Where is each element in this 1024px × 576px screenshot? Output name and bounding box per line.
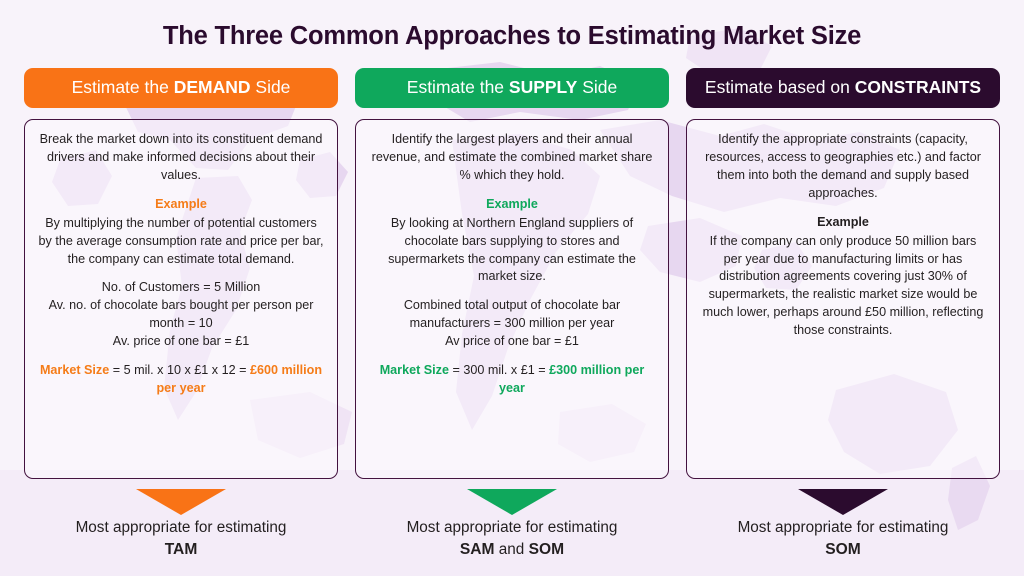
footer-term-supply-0: SAM [460,541,495,558]
footer-term-constraints-0: SOM [825,541,861,558]
example-body-demand: By multiplying the number of potential c… [37,215,325,269]
page-title: The Three Common Approaches to Estimatin… [24,22,1000,51]
example-label-constraints: Example [699,214,987,232]
arrow-wrap-constraints [686,479,1000,517]
fact-demand-2: Av. price of one bar = £1 [37,333,325,351]
fact-supply-1: Av price of one bar = £1 [368,333,656,351]
down-arrow-icon-supply [467,489,557,515]
header-demand-prefix: Estimate the [72,77,174,97]
market-size-supply: Market Size = 300 mil. x £1 = £300 milli… [368,362,656,398]
footer-term-demand-0: TAM [165,541,198,558]
example-label-supply: Example [368,196,656,214]
header-constraints: Estimate based on CONSTRAINTS [686,68,1000,108]
arrow-wrap-supply [355,479,669,517]
market-size-formula-demand: = 5 mil. x 10 x £1 x 12 = [109,363,250,377]
footer-lead-constraints: Most appropriate for estimating [738,519,949,536]
infographic-root: The Three Common Approaches to Estimatin… [0,0,1024,576]
column-demand: Estimate the DEMAND Side Break the marke… [24,68,338,566]
down-arrow-icon-constraints [798,489,888,515]
footer-demand: Most appropriate for estimating TAM [24,517,338,566]
market-size-formula-supply: = 300 mil. x £1 = [449,363,549,377]
header-constraints-prefix: Estimate based on [705,77,855,97]
header-constraints-emphasis: CONSTRAINTS [855,77,981,97]
header-demand-emphasis: DEMAND [174,77,251,97]
header-supply-emphasis: SUPPLY [509,77,577,97]
column-constraints: Estimate based on CONSTRAINTS Identify t… [686,68,1000,566]
header-demand-suffix: Side [251,77,291,97]
header-supply-prefix: Estimate the [407,77,509,97]
column-supply: Estimate the SUPPLY Side Identify the la… [355,68,669,566]
example-body-constraints: If the company can only produce 50 milli… [699,233,987,340]
footer-constraints: Most appropriate for estimating SOM [686,517,1000,566]
intro-demand: Break the market down into its constitue… [37,131,325,185]
header-supply: Estimate the SUPPLY Side [355,68,669,108]
arrow-wrap-demand [24,479,338,517]
footer-conjunction-supply: and [495,541,529,558]
fact-demand-0: No. of Customers = 5 Million [37,279,325,297]
fact-demand-1: Av. no. of chocolate bars bought per per… [37,297,325,333]
card-demand: Break the market down into its constitue… [24,119,338,479]
intro-supply: Identify the largest players and their a… [368,131,656,185]
footer-lead-demand: Most appropriate for estimating [76,519,287,536]
header-supply-suffix: Side [577,77,617,97]
example-body-supply: By looking at Northern England suppliers… [368,215,656,287]
card-constraints: Identify the appropriate constraints (ca… [686,119,1000,479]
card-supply: Identify the largest players and their a… [355,119,669,479]
approach-columns: Estimate the DEMAND Side Break the marke… [24,68,1000,566]
down-arrow-icon-demand [136,489,226,515]
example-label-demand: Example [37,196,325,214]
fact-supply-0: Combined total output of chocolate bar m… [368,297,656,333]
intro-constraints: Identify the appropriate constraints (ca… [699,131,987,203]
footer-lead-supply: Most appropriate for estimating [407,519,618,536]
footer-supply: Most appropriate for estimating SAM and … [355,517,669,566]
market-size-label-supply: Market Size [380,363,449,377]
header-demand: Estimate the DEMAND Side [24,68,338,108]
footer-term-supply-1: SOM [529,541,565,558]
market-size-demand: Market Size = 5 mil. x 10 x £1 x 12 = £6… [37,362,325,398]
market-size-label-demand: Market Size [40,363,109,377]
